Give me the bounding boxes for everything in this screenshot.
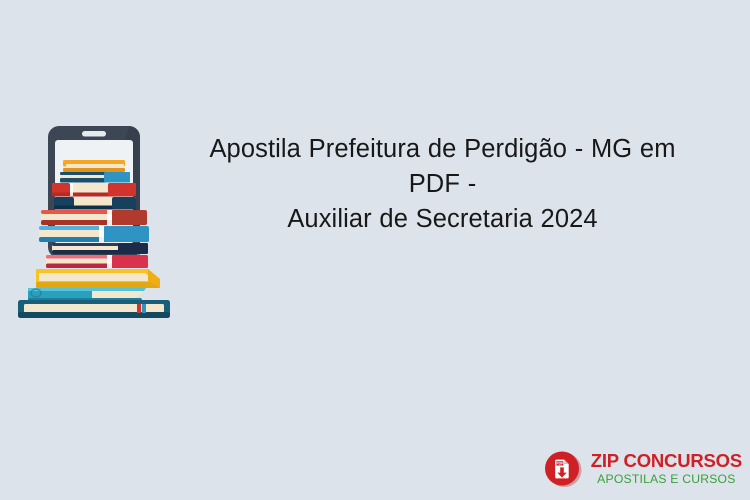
hero-title-line-2: Auxiliar de Secretaria 2024 [180,202,705,237]
book-yellow-9 [36,269,160,288]
book-darkred-5 [41,210,147,225]
pdf-download-circle-icon: PDF [542,448,584,490]
book-orange-top [63,160,125,172]
books-tablet-illustration [8,118,180,318]
book-darknavy-4 [54,197,136,210]
book-darkblue-7 [52,243,148,254]
book-crimson-8 [46,255,148,268]
hero-title: Apostila Prefeitura de Perdigão - MG em … [180,132,705,237]
brand-tagline: APOSTILAS E CURSOS [591,473,742,485]
book-base-11 [18,300,170,318]
book-blue-6 [39,226,149,242]
hero-title-line-1: Apostila Prefeitura de Perdigão - MG em … [180,132,705,202]
brand-logo[interactable]: PDF ZIP CONCURSOS APOSTILAS E CURSOS [542,446,742,492]
book-red-3 [52,183,136,197]
brand-wordmark: ZIP CONCURSOS APOSTILAS E CURSOS [591,452,742,487]
book-navy-2 [60,172,130,183]
promo-banner: Apostila Prefeitura de Perdigão - MG em … [0,0,750,500]
svg-text:PDF: PDF [556,462,563,466]
brand-name: ZIP CONCURSOS [591,452,742,471]
